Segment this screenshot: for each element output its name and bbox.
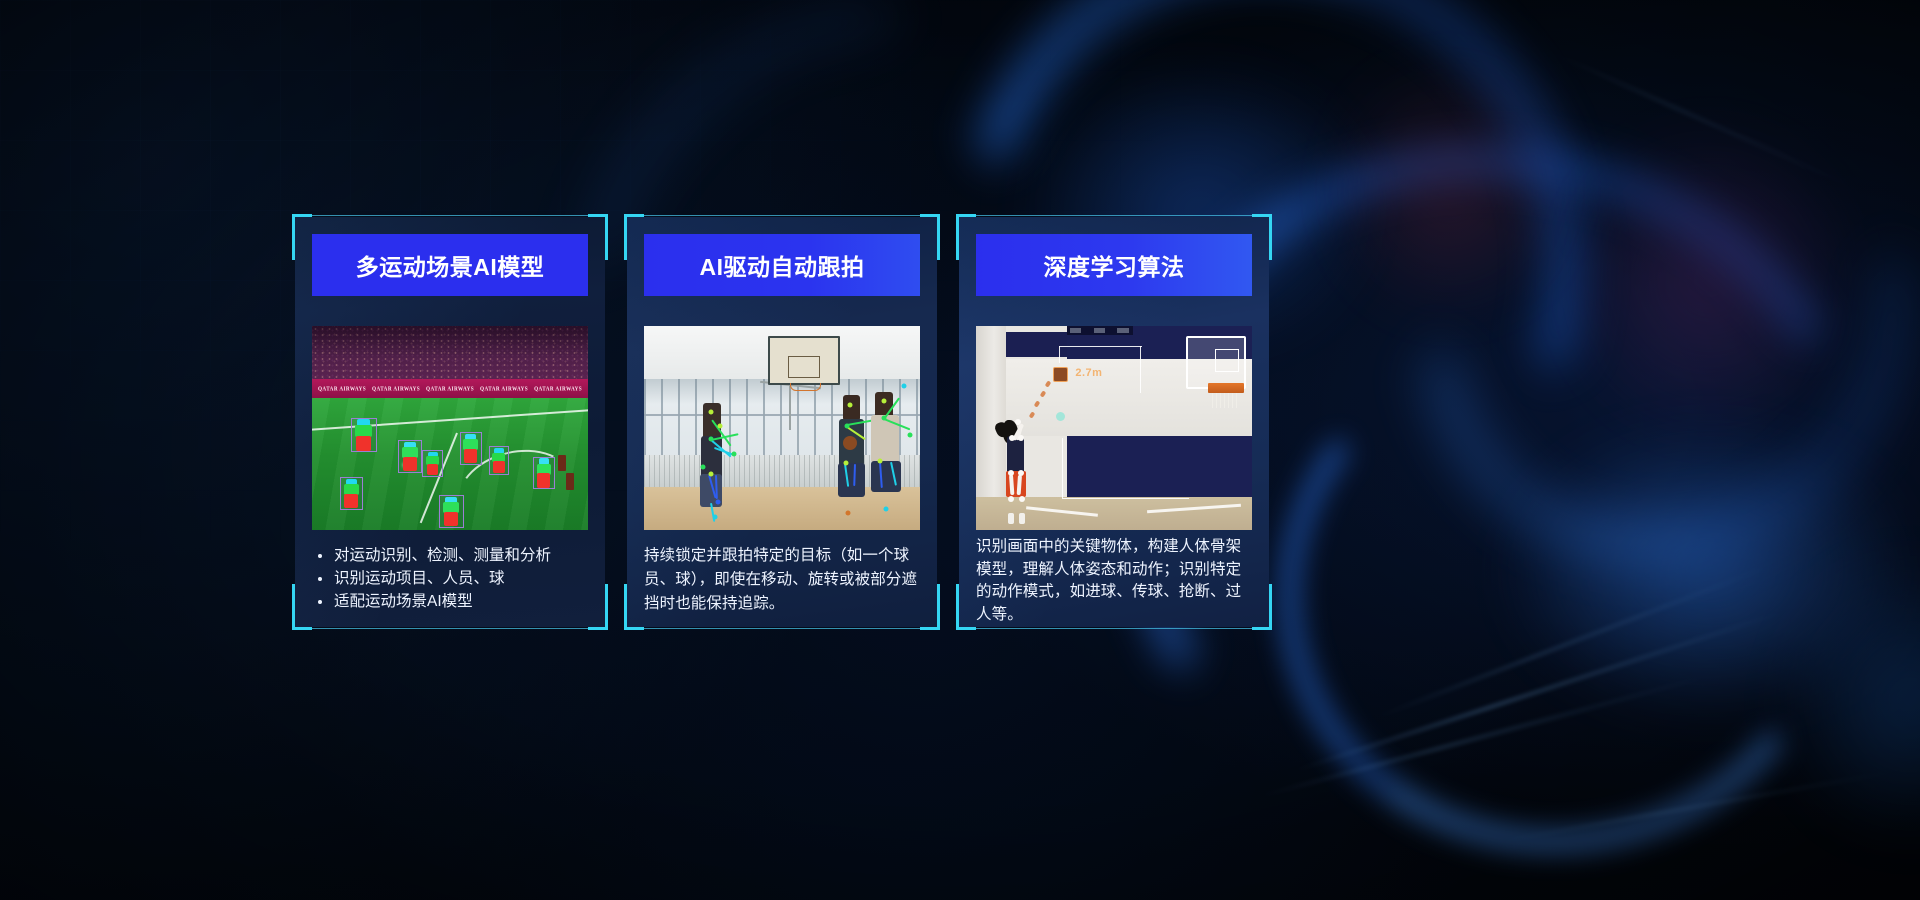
basketball-court-image: 2.7m <box>976 326 1252 530</box>
pose-skeleton-shooter <box>993 416 1043 526</box>
advertising-board-text: QATAR AIRWAYS <box>366 385 420 393</box>
stadium-crowd <box>312 326 588 379</box>
backboard <box>768 336 840 385</box>
player-detection-box <box>439 495 464 528</box>
opposing-player <box>558 455 566 471</box>
player-detection-box <box>351 418 377 453</box>
card-title: AI驱动自动跟拍 <box>700 248 865 282</box>
secondary-tracking-marker <box>1056 412 1065 421</box>
scoreboard <box>1067 326 1133 335</box>
card-body: 持续锁定并跟拍特定的目标（如一个球员、球），即使在移动、旋转或被部分遮挡时也能保… <box>644 544 922 616</box>
card-media-shot-trajectory-analysis-image: 2.7m <box>976 326 1252 530</box>
soccer-pitch-image: QATAR AIRWAYS QATAR AIRWAYS QATAR AIRWAY… <box>312 326 588 530</box>
trajectory-guide-horizontal <box>1059 346 1142 347</box>
bullet-item: 对运动识别、检测、测量和分析 <box>312 544 590 567</box>
player-detection-box <box>533 457 555 490</box>
basketball-net <box>1212 393 1240 407</box>
feature-card-ai-auto-tracking[interactable]: AI驱动自动跟拍 <box>624 214 940 630</box>
feature-card-deep-learning-algorithm[interactable]: 深度学习算法 <box>956 214 1272 630</box>
advertising-board-text: QATAR AIRWAYS <box>474 385 528 393</box>
card-description: 持续锁定并跟拍特定的目标（如一个球员、球），即使在移动、旋转或被部分遮挡时也能保… <box>644 544 922 616</box>
backboard-pole <box>789 385 791 430</box>
advertising-board-text: QATAR AIRWAYS <box>420 385 474 393</box>
measurement-label: 2.7m <box>1075 367 1102 379</box>
card-description: 识别画面中的关键物体，构建人体骨架模型，理解人体姿态和动作；识别特定的动作模式，… <box>976 536 1254 626</box>
feature-card-multi-sport-ai-model[interactable]: 多运动场景AI模型 QATAR AIRWAYS QATAR AIRWAYS QA… <box>292 214 608 630</box>
pose-skeleton-right-player-b <box>859 375 920 518</box>
basketball <box>843 436 857 450</box>
ball-tracking-box <box>1053 367 1068 382</box>
player-detection-box <box>398 440 423 473</box>
card-content: 深度学习算法 <box>956 214 1272 630</box>
card-media-soccer-pitch-detection-image: QATAR AIRWAYS QATAR AIRWAYS QATAR AIRWAY… <box>312 326 588 530</box>
advertising-board: QATAR AIRWAYS QATAR AIRWAYS QATAR AIRWAY… <box>312 379 588 398</box>
bullet-item: 识别运动项目、人员、球 <box>312 567 590 590</box>
trajectory-guide-vertical <box>1140 346 1141 393</box>
advertising-board-text: QATAR AIRWAYS <box>312 385 366 393</box>
player-detection-box <box>489 446 510 475</box>
backboard <box>1186 336 1247 389</box>
card-media-gym-basketball-pose-image <box>644 326 920 530</box>
card-header: 多运动场景AI模型 <box>312 234 588 296</box>
trajectory-guide-drop <box>1059 346 1060 362</box>
card-body: 对运动识别、检测、测量和分析 识别运动项目、人员、球 适配运动场景AI模型 <box>312 544 590 613</box>
card-title: 深度学习算法 <box>1044 248 1185 282</box>
player-detection-box <box>422 450 443 477</box>
opposing-player <box>566 473 574 490</box>
gym-basketball-image <box>644 326 920 530</box>
player-detection-box <box>460 432 482 465</box>
card-body: 识别画面中的关键物体，构建人体骨架模型，理解人体姿态和动作；识别特定的动作模式，… <box>976 536 1254 626</box>
pose-skeleton-left-player <box>683 393 777 519</box>
trajectory-floor-guide <box>1062 438 1189 499</box>
bullet-item: 适配运动场景AI模型 <box>312 590 590 613</box>
card-header: 深度学习算法 <box>976 234 1252 296</box>
card-content: AI驱动自动跟拍 <box>624 214 940 630</box>
player-detection-box <box>340 477 363 510</box>
card-title: 多运动场景AI模型 <box>356 248 545 282</box>
basketball-hoop <box>1208 383 1244 393</box>
advertising-board-text: QATAR AIRWAYS <box>528 385 582 393</box>
feature-card-group: 多运动场景AI模型 QATAR AIRWAYS QATAR AIRWAYS QA… <box>0 0 1920 900</box>
basketball-rim <box>790 383 820 391</box>
feature-bullet-list: 对运动识别、检测、测量和分析 识别运动项目、人员、球 适配运动场景AI模型 <box>312 544 590 613</box>
card-content: 多运动场景AI模型 QATAR AIRWAYS QATAR AIRWAYS QA… <box>292 214 608 630</box>
card-header: AI驱动自动跟拍 <box>644 234 920 296</box>
